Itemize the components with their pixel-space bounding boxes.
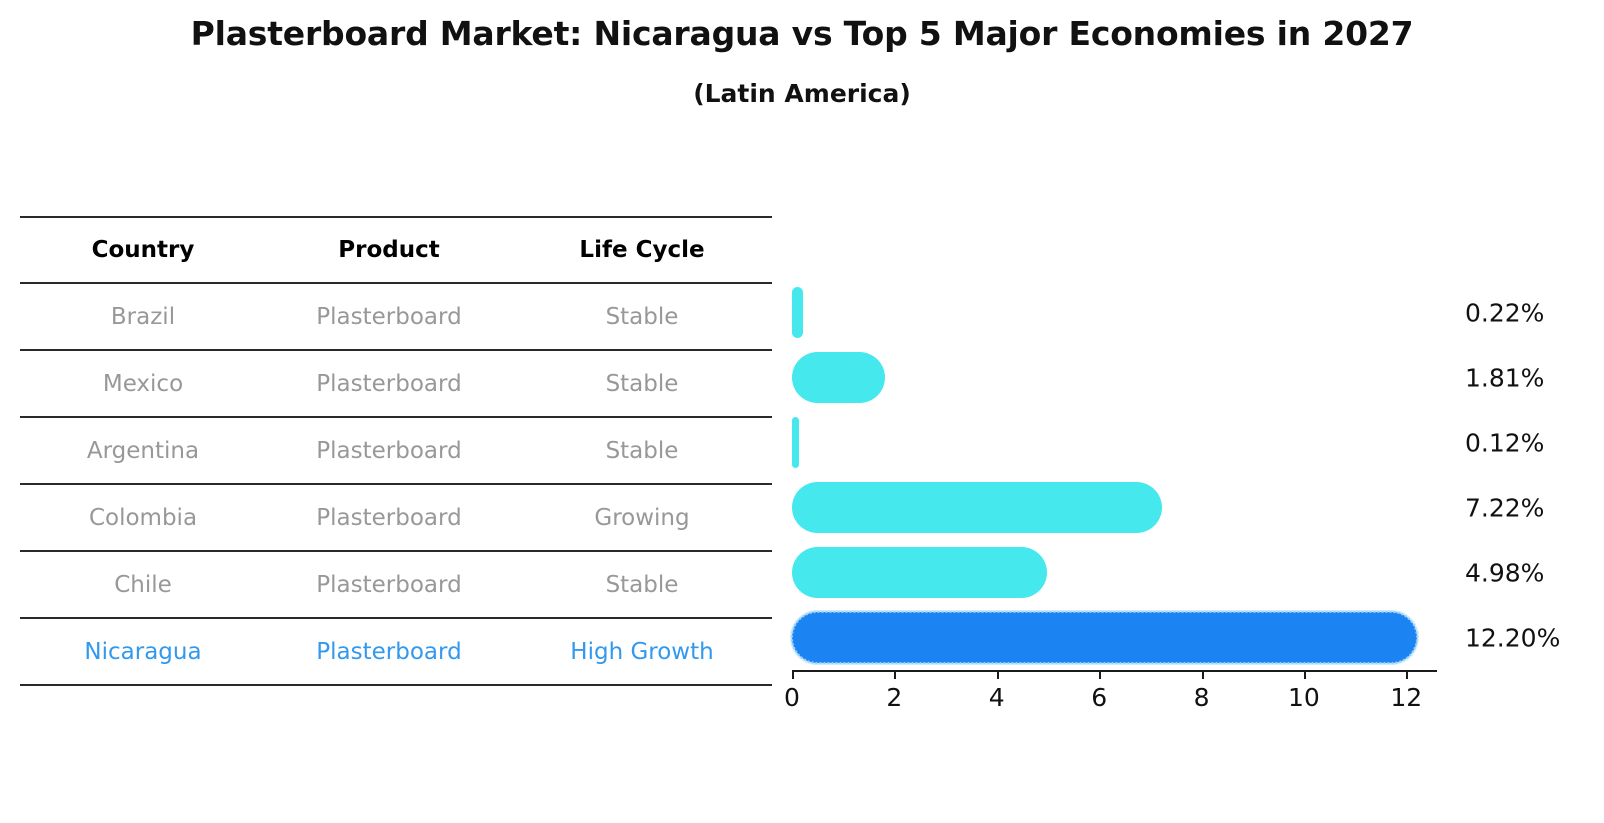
table-row: NicaraguaPlasterboardHigh Growth <box>20 618 772 685</box>
x-axis-tick <box>997 670 999 679</box>
table-cell-product: Plasterboard <box>266 417 512 484</box>
bar-value-label: 1.81% <box>1465 363 1544 392</box>
bar-highlight-nicaragua <box>792 612 1417 663</box>
table-cell-life-cycle: Stable <box>512 551 772 618</box>
x-axis-tick-label: 6 <box>1091 683 1107 712</box>
bar-value-label: 0.22% <box>1465 298 1544 327</box>
bar-brazil <box>792 287 803 338</box>
table-cell-country: Brazil <box>20 283 266 350</box>
bar-argentina <box>792 417 799 468</box>
bar-chart-panel: 0.22%1.81%0.12%7.22%4.98%12.20% 02468101… <box>772 216 1604 736</box>
table-cell-country: Argentina <box>20 417 266 484</box>
x-axis-tick-label: 8 <box>1194 683 1210 712</box>
table-cell-product: Plasterboard <box>266 283 512 350</box>
table-cell-life-cycle: High Growth <box>512 618 772 685</box>
table-body: BrazilPlasterboardStableMexicoPlasterboa… <box>20 283 772 685</box>
x-axis-tick-label: 12 <box>1390 683 1422 712</box>
table-cell-product: Plasterboard <box>266 618 512 685</box>
data-table-panel: Country Product Life Cycle BrazilPlaster… <box>20 216 772 686</box>
bar-chile <box>792 547 1047 598</box>
column-header-product: Product <box>266 217 512 283</box>
x-axis-tick <box>1304 670 1306 679</box>
bar-value-label: 4.98% <box>1465 558 1544 587</box>
column-header-country: Country <box>20 217 266 283</box>
bar-row: 12.20% <box>792 605 1437 670</box>
comparison-table: Country Product Life Cycle BrazilPlaster… <box>20 216 772 686</box>
bar-row: 0.12% <box>792 410 1437 475</box>
table-header-row: Country Product Life Cycle <box>20 217 772 283</box>
table-cell-country: Mexico <box>20 350 266 417</box>
table-row: MexicoPlasterboardStable <box>20 350 772 417</box>
table-cell-country: Colombia <box>20 484 266 551</box>
x-axis-tick-label: 2 <box>886 683 902 712</box>
table-row: ChilePlasterboardStable <box>20 551 772 618</box>
table-header: Country Product Life Cycle <box>20 217 772 283</box>
x-axis-tick <box>792 670 794 679</box>
x-axis: 024681012 <box>792 670 1437 671</box>
x-axis-tick-label: 4 <box>989 683 1005 712</box>
page-subtitle: (Latin America) <box>0 79 1604 108</box>
bar-row: 4.98% <box>792 540 1437 605</box>
table-cell-product: Plasterboard <box>266 350 512 417</box>
bar-row: 1.81% <box>792 345 1437 410</box>
bar-value-label: 7.22% <box>1465 493 1544 522</box>
table-cell-life-cycle: Stable <box>512 283 772 350</box>
table-row: ColombiaPlasterboardGrowing <box>20 484 772 551</box>
x-axis-tick-label: 10 <box>1288 683 1320 712</box>
bar-value-label: 12.20% <box>1465 623 1560 652</box>
bar-mexico <box>792 352 885 403</box>
bar-value-label: 0.12% <box>1465 428 1544 457</box>
table-row: BrazilPlasterboardStable <box>20 283 772 350</box>
x-axis-tick-label: 0 <box>784 683 800 712</box>
x-axis-line <box>792 670 1437 672</box>
bar-colombia <box>792 482 1162 533</box>
table-row: ArgentinaPlasterboardStable <box>20 417 772 484</box>
x-axis-tick <box>1202 670 1204 679</box>
column-header-life-cycle: Life Cycle <box>512 217 772 283</box>
bar-row: 0.22% <box>792 280 1437 345</box>
x-axis-tick <box>894 670 896 679</box>
bar-row: 7.22% <box>792 475 1437 540</box>
table-cell-life-cycle: Growing <box>512 484 772 551</box>
page-title: Plasterboard Market: Nicaragua vs Top 5 … <box>0 14 1604 53</box>
table-cell-country: Chile <box>20 551 266 618</box>
table-cell-life-cycle: Stable <box>512 350 772 417</box>
table-cell-product: Plasterboard <box>266 551 512 618</box>
table-cell-life-cycle: Stable <box>512 417 772 484</box>
plot-area: 0.22%1.81%0.12%7.22%4.98%12.20% <box>792 280 1437 670</box>
table-cell-country: Nicaragua <box>20 618 266 685</box>
table-cell-product: Plasterboard <box>266 484 512 551</box>
x-axis-tick <box>1099 670 1101 679</box>
x-axis-tick <box>1406 670 1408 679</box>
